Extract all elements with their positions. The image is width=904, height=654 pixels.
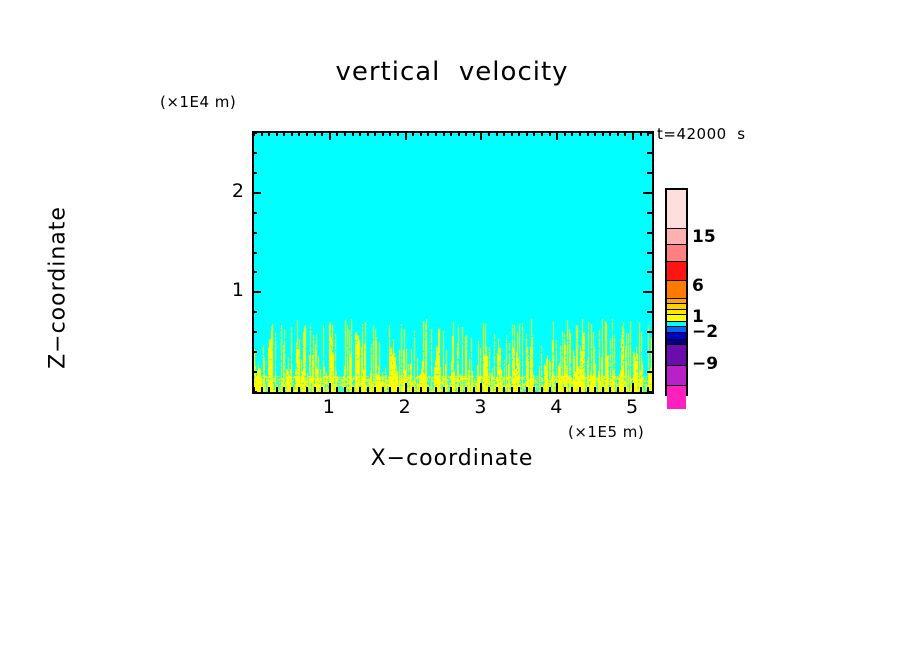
colorbar-tick-label: 6 [692, 276, 704, 296]
x-tick [458, 387, 460, 392]
x-tick [480, 383, 482, 392]
y-tick-label: 2 [204, 180, 244, 202]
y-tick [252, 132, 257, 134]
x-tick-top [458, 131, 460, 136]
colorbar [665, 188, 688, 396]
x-tick-top [298, 131, 300, 136]
y-tick [252, 271, 257, 273]
x-tick [632, 383, 634, 392]
x-tick-top [443, 131, 445, 136]
y-tick-right [647, 311, 652, 313]
colorbar-band [667, 244, 686, 261]
x-tick [496, 387, 498, 392]
x-tick [321, 387, 323, 392]
x-tick [571, 387, 573, 392]
x-tick [473, 387, 475, 392]
x-tick-top [480, 131, 482, 140]
x-tick [503, 387, 505, 392]
x-tick [443, 387, 445, 392]
x-tick-top [594, 131, 596, 136]
x-tick-top [314, 131, 316, 136]
y-tick [252, 212, 257, 214]
colorbar-tick-label: 15 [692, 227, 716, 247]
colorbar-tick-label: −2 [692, 322, 718, 342]
x-tick-label: 3 [460, 396, 500, 418]
y-tick-right [647, 152, 652, 154]
x-tick-top [420, 131, 422, 136]
colorbar-band [667, 332, 686, 339]
x-tick [617, 387, 619, 392]
x-tick-top [450, 131, 452, 136]
y-tick-right [647, 331, 652, 333]
x-tick-top [511, 131, 513, 136]
x-tick-top [632, 131, 634, 140]
y-axis-title: Z−coordinate [46, 138, 71, 438]
x-tick [465, 387, 467, 392]
time-annotation: t=42000 s [657, 125, 746, 143]
x-tick [268, 387, 270, 392]
x-tick [412, 387, 414, 392]
x-tick [336, 387, 338, 392]
x-tick-top [496, 131, 498, 136]
x-tick [518, 387, 520, 392]
x-tick [541, 387, 543, 392]
x-tick [526, 387, 528, 392]
x-tick [298, 387, 300, 392]
z-axis-units-label: (×1E4 m) [160, 93, 236, 111]
y-tick-right [647, 212, 652, 214]
x-tick [549, 387, 551, 392]
colorbar-band [667, 314, 686, 321]
x-tick-top [488, 131, 490, 136]
x-tick [374, 387, 376, 392]
x-tick-label: 2 [385, 396, 425, 418]
x-tick-label: 5 [612, 396, 652, 418]
y-tick [252, 351, 257, 353]
x-tick [609, 387, 611, 392]
x-tick-top [533, 131, 535, 136]
x-tick-top [321, 131, 323, 136]
x-tick [587, 387, 589, 392]
colorbar-band [667, 344, 686, 365]
x-tick-top [344, 131, 346, 136]
colorbar-band [667, 261, 686, 280]
y-tick-right [647, 172, 652, 174]
x-tick-top [276, 131, 278, 136]
x-tick-top [367, 131, 369, 136]
y-tick-right [647, 391, 652, 393]
velocity-field-heatmap [254, 133, 652, 392]
x-tick-top [518, 131, 520, 136]
x-tick-top [412, 131, 414, 136]
figure-canvas: vertical velocity (×1E4 m) t=42000 s 123… [0, 0, 904, 654]
y-tick [252, 252, 257, 254]
x-tick [291, 387, 293, 392]
x-tick [427, 387, 429, 392]
x-tick [359, 387, 361, 392]
x-tick [329, 383, 331, 392]
y-tick [252, 331, 257, 333]
x-tick [389, 387, 391, 392]
x-tick-top [336, 131, 338, 136]
x-tick-top [261, 131, 263, 136]
x-tick-top [397, 131, 399, 136]
x-tick [367, 387, 369, 392]
y-tick [252, 152, 257, 154]
x-tick [556, 383, 558, 392]
x-tick [420, 387, 422, 392]
x-tick-top [283, 131, 285, 136]
x-tick-top [405, 131, 407, 140]
y-tick-right [647, 232, 652, 234]
x-tick-top [640, 131, 642, 136]
x-tick [488, 387, 490, 392]
y-tick-right [643, 291, 652, 293]
x-tick-top [359, 131, 361, 136]
x-tick-top [609, 131, 611, 136]
x-tick [352, 387, 354, 392]
x-tick [382, 387, 384, 392]
x-tick-top [556, 131, 558, 140]
colorbar-band [667, 228, 686, 245]
x-tick [276, 387, 278, 392]
colorbar-band [667, 385, 686, 409]
x-tick [261, 387, 263, 392]
colorbar-tick-label: −9 [692, 354, 718, 374]
y-tick-right [647, 271, 652, 273]
x-tick [344, 387, 346, 392]
y-tick-right [647, 132, 652, 134]
x-tick-top [268, 131, 270, 136]
x-tick [450, 387, 452, 392]
x-tick-top [427, 131, 429, 136]
x-tick-top [541, 131, 543, 136]
x-tick-label: 1 [309, 396, 349, 418]
x-tick-top [602, 131, 604, 136]
plot-area [252, 131, 654, 394]
y-tick-right [647, 371, 652, 373]
x-tick [397, 387, 399, 392]
x-axis-units-label: (×1E5 m) [568, 423, 644, 441]
x-tick-top [579, 131, 581, 136]
plot-title: vertical velocity [0, 57, 904, 87]
x-tick [533, 387, 535, 392]
y-tick-right [643, 192, 652, 194]
x-tick-top [382, 131, 384, 136]
x-tick [624, 387, 626, 392]
y-tick [252, 232, 257, 234]
x-tick-top [587, 131, 589, 136]
x-tick [564, 387, 566, 392]
x-tick-label: 4 [536, 396, 576, 418]
x-tick-top [435, 131, 437, 136]
x-tick [306, 387, 308, 392]
y-tick-right [647, 252, 652, 254]
x-tick-top [549, 131, 551, 136]
x-axis-title: X−coordinate [0, 446, 904, 471]
x-tick [314, 387, 316, 392]
y-tick [252, 291, 261, 293]
x-tick [283, 387, 285, 392]
x-tick [405, 383, 407, 392]
colorbar-band [667, 365, 686, 385]
x-tick-top [374, 131, 376, 136]
x-tick [594, 387, 596, 392]
y-tick-label: 1 [204, 279, 244, 301]
x-tick-top [564, 131, 566, 136]
y-tick-right [647, 351, 652, 353]
y-tick [252, 192, 261, 194]
x-tick-top [624, 131, 626, 136]
colorbar-band [667, 190, 686, 228]
y-tick [252, 391, 257, 393]
y-tick [252, 371, 257, 373]
x-tick [602, 387, 604, 392]
x-tick-top [389, 131, 391, 136]
x-tick-top [503, 131, 505, 136]
x-tick-top [526, 131, 528, 136]
x-tick [435, 387, 437, 392]
x-tick-top [329, 131, 331, 140]
colorbar-band [667, 280, 686, 298]
x-tick-top [465, 131, 467, 136]
x-tick-top [352, 131, 354, 136]
y-tick [252, 311, 257, 313]
x-tick [640, 387, 642, 392]
y-tick [252, 172, 257, 174]
x-tick [511, 387, 513, 392]
x-tick-top [291, 131, 293, 136]
x-tick [579, 387, 581, 392]
x-tick-top [306, 131, 308, 136]
x-tick-top [473, 131, 475, 136]
x-tick-top [617, 131, 619, 136]
x-tick-top [571, 131, 573, 136]
